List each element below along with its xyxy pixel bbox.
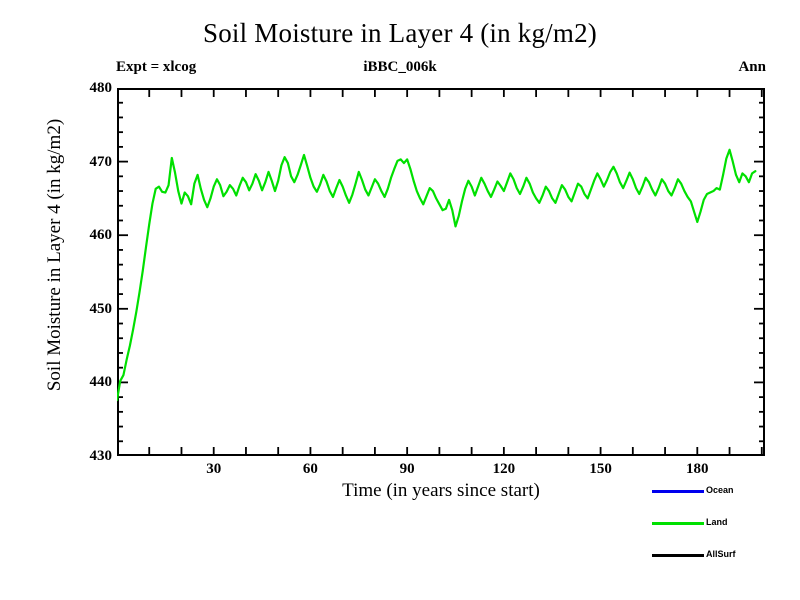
legend-label: Land — [706, 516, 728, 529]
page-title: Soil Moisture in Layer 4 (in kg/m2) — [0, 18, 800, 48]
legend-swatch-land — [652, 522, 704, 525]
x-tick-labels: 306090120150180 — [0, 462, 800, 482]
plot-area — [117, 88, 765, 456]
legend-item-land[interactable]: Land — [648, 516, 798, 530]
y-tick-label: 460 — [76, 228, 112, 243]
legend-item-ocean[interactable]: Ocean — [648, 484, 798, 498]
x-tick-label: 90 — [385, 462, 429, 477]
y-tick-label: 470 — [76, 155, 112, 170]
legend-item-allsurf[interactable]: AllSurf — [648, 548, 798, 562]
x-tick-label: 120 — [482, 462, 526, 477]
y-tick-label: 440 — [76, 375, 112, 390]
legend: OceanLandAllSurf — [648, 484, 798, 562]
y-axis-title: Soil Moisture in Layer 4 (in kg/m2) — [42, 70, 68, 440]
x-tick-label: 30 — [192, 462, 236, 477]
x-tick-label: 150 — [579, 462, 623, 477]
y-tick-labels: 430440450460470480 — [72, 0, 112, 600]
data-line-land — [117, 150, 755, 400]
subtitle-label: iBBC_006k — [0, 59, 800, 76]
y-tick-label: 480 — [76, 81, 112, 96]
period-label: Ann — [738, 59, 766, 76]
legend-swatch-ocean — [652, 490, 704, 493]
x-tick-label: 180 — [675, 462, 719, 477]
x-tick-label: 60 — [288, 462, 332, 477]
legend-swatch-allsurf — [652, 554, 704, 557]
legend-label: AllSurf — [706, 548, 736, 561]
axis-ticks — [117, 88, 765, 456]
chart-page: Soil Moisture in Layer 4 (in kg/m2) Expt… — [0, 0, 800, 600]
data-series-group — [117, 150, 755, 400]
y-tick-label: 450 — [76, 302, 112, 317]
legend-label: Ocean — [706, 484, 734, 497]
